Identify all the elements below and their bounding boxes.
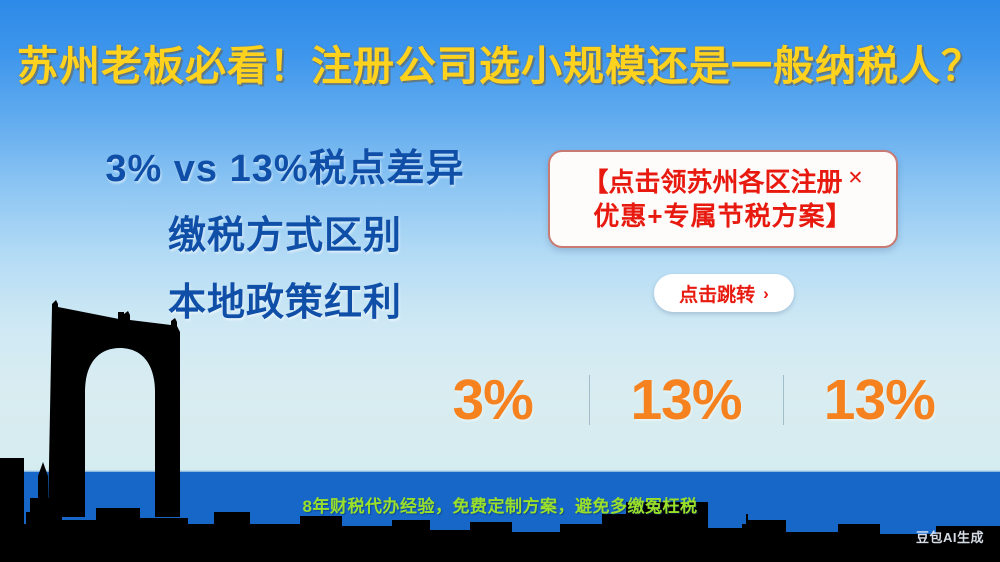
cta-card-line-2: 优惠+专属节税方案】 [593,199,852,233]
cta-card-line-1-text: 【点击领苏州各区注册 [583,165,843,199]
footer-strapline: 8年财税代办经验，免费定制方案，避免多缴冤枉税 [0,492,1000,517]
jump-button-label: 点击跳转 [679,280,755,307]
tax-rate-cell: 13% [589,372,782,429]
benefit-item-tax-rate-difference: 3% vs 13%税点差异 [70,150,500,188]
tax-rate-cell: 13% [783,372,976,429]
bottom-blue-band [0,472,1000,562]
jump-button[interactable]: 点击跳转 › [654,274,794,312]
cta-card-line-2-text: 优惠+专属节税方案】 [593,199,852,233]
cta-offer-card[interactable]: 【点击领苏州各区注册 ✕ 优惠+专属节税方案】 [548,150,898,248]
tax-rate-cell: 3% [396,372,589,429]
chevron-right-icon: › [763,285,769,302]
tax-rate-comparison-row: 3% 13% 13% [396,368,976,432]
tax-rate-value: 13% [630,368,741,432]
benefit-list: 3% vs 13%税点差异 缴税方式区别 本地政策红利 [70,150,500,322]
close-icon: ✕ [848,166,864,191]
benefit-item-local-policy: 本地政策红利 [70,284,500,322]
page-title: 苏州老板必看！注册公司选小规模还是一般纳税人？ [0,32,1000,92]
tax-rate-value: 13% [824,368,935,432]
watermark: 豆包AI生成 [916,527,984,546]
benefit-item-payment-method: 缴税方式区别 [70,217,500,255]
cta-card-line-1: 【点击领苏州各区注册 ✕ [583,165,864,199]
poster-canvas: 苏州老板必看！注册公司选小规模还是一般纳税人？ 3% vs 13%税点差异 缴税… [0,0,1000,562]
tax-rate-value: 3% [452,368,532,432]
